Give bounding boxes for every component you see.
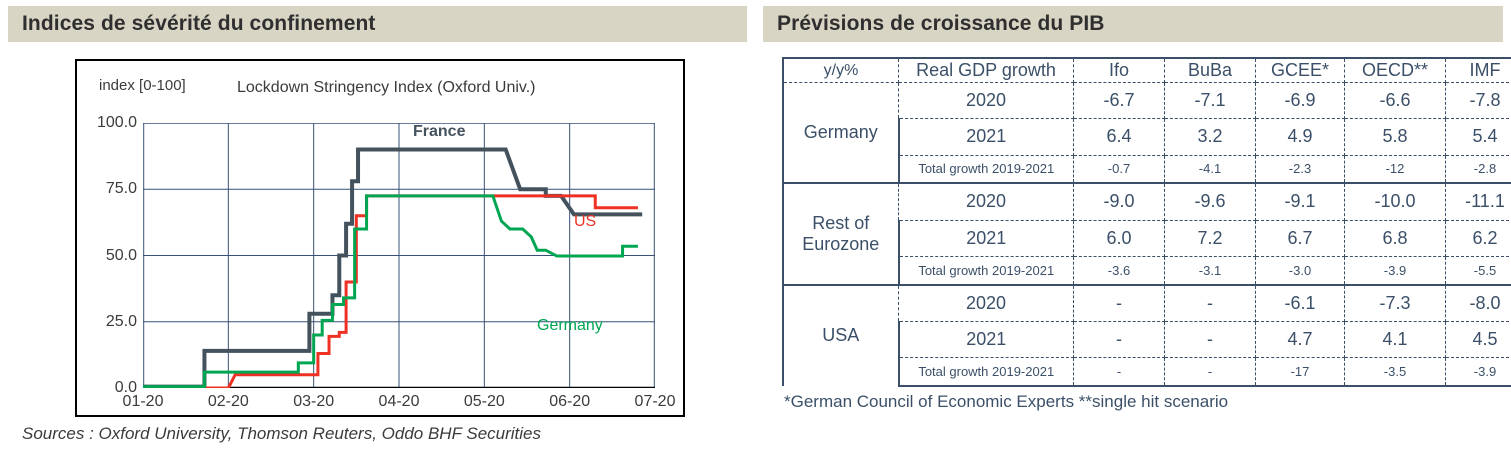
y-tick-label: 100.0 [97,114,137,132]
year-cell: 2020 [899,83,1074,119]
total-growth-value: -17 [1256,358,1345,386]
total-growth-value: -3.9 [1446,358,1511,386]
header-oecd: OECD** [1345,58,1446,83]
value-cell: 4.1 [1345,322,1446,358]
value-cell: - [1165,285,1256,322]
table-header-row: y/y% Real GDP growth Ifo BuBa GCEE* OECD… [783,58,1511,83]
total-growth-value: -3.6 [1074,257,1165,285]
x-tick-label: 05-20 [464,393,505,411]
chart-title: Lockdown Stringency Index (Oxford Univ.) [237,79,536,97]
value-cell: 6.0 [1074,220,1165,256]
total-growth-value: -3.0 [1256,257,1345,285]
value-cell: - [1074,285,1165,322]
value-cell: 6.4 [1074,119,1165,155]
right-panel-title: Prévisions de croissance du PIB [763,12,1105,36]
y-tick-label: 75.0 [106,180,137,198]
value-cell: -9.0 [1074,183,1165,220]
value-cell: -9.1 [1256,183,1345,220]
right-panel: Prévisions de croissance du PIB y/y% Rea… [755,0,1511,458]
series-line-us [143,196,638,388]
value-cell: -7.8 [1446,83,1511,119]
table-body: Germany2020-6.7-7.1-6.9-6.6-7.820216.43.… [783,83,1511,387]
x-tick-label: 06-20 [549,393,590,411]
x-tick-label: 07-20 [635,393,676,411]
total-growth-value: -3.5 [1345,358,1446,386]
sources-note: Sources : Oxford University, Thomson Reu… [22,424,541,444]
x-tick-label: 04-20 [379,393,420,411]
value-cell: -6.6 [1345,83,1446,119]
x-tick-label: 02-20 [208,393,249,411]
header-gcee: GCEE* [1256,58,1345,83]
value-cell: -10.0 [1345,183,1446,220]
table-row: USA2020---6.1-7.3-8.0 [783,285,1511,322]
total-growth-value: -5.5 [1446,257,1511,285]
value-cell: -7.3 [1345,285,1446,322]
gdp-forecast-table: y/y% Real GDP growth Ifo BuBa GCEE* OECD… [782,57,1511,387]
header-unit: y/y% [783,58,899,83]
plot-area [143,123,655,388]
series-line-france [143,150,642,387]
value-cell: -11.1 [1446,183,1511,220]
value-cell: - [1074,322,1165,358]
year-cell: 2020 [899,183,1074,220]
value-cell: - [1165,322,1256,358]
left-panel: Indices de sévérité du confinement index… [0,0,755,458]
year-cell: 2020 [899,285,1074,322]
value-cell: 4.9 [1256,119,1345,155]
total-growth-value: -12 [1345,155,1446,183]
value-cell: 5.4 [1446,119,1511,155]
value-cell: 6.2 [1446,220,1511,256]
y-tick-label: 25.0 [106,313,137,331]
value-cell: 6.7 [1256,220,1345,256]
left-panel-title: Indices de sévérité du confinement [8,12,376,36]
total-growth-value: - [1165,358,1256,386]
y-tick-label: 50.0 [106,247,137,265]
header-metric: Real GDP growth [899,58,1074,83]
value-cell: 7.2 [1165,220,1256,256]
total-growth-label: Total growth 2019-2021 [899,155,1074,183]
value-cell: 6.8 [1345,220,1446,256]
gdp-forecast-table-wrap: y/y% Real GDP growth Ifo BuBa GCEE* OECD… [782,57,1474,387]
value-cell: 3.2 [1165,119,1256,155]
year-cell: 2021 [899,220,1074,256]
y-axis-ticks: 0.025.050.075.0100.0 [77,123,137,388]
value-cell: 4.7 [1256,322,1345,358]
value-cell: -6.1 [1256,285,1345,322]
group-label-usa: USA [783,285,899,386]
table-footnote: *German Council of Economic Experts **si… [784,392,1228,412]
header-ifo: Ifo [1074,58,1165,83]
total-growth-label: Total growth 2019-2021 [899,257,1074,285]
x-tick-label: 03-20 [293,393,334,411]
total-growth-value: -3.9 [1345,257,1446,285]
total-growth-value: -2.8 [1446,155,1511,183]
x-tick-label: 01-20 [123,393,164,411]
total-growth-value: -4.1 [1165,155,1256,183]
table-row: Germany2020-6.7-7.1-6.9-6.6-7.8 [783,83,1511,119]
year-cell: 2021 [899,322,1074,358]
group-label-rest-of-eurozone: Rest of Eurozone [783,183,899,284]
value-cell: -6.7 [1074,83,1165,119]
right-header-band: Prévisions de croissance du PIB [763,6,1503,42]
value-cell: -9.6 [1165,183,1256,220]
series-label-france: France [413,123,465,141]
year-cell: 2021 [899,119,1074,155]
total-growth-label: Total growth 2019-2021 [899,358,1074,386]
series-line-germany [143,196,638,387]
total-growth-value: - [1074,358,1165,386]
header-imf: IMF [1446,58,1511,83]
value-cell: -7.1 [1165,83,1256,119]
stringency-chart: index [0-100] Lockdown Stringency Index … [75,59,685,417]
series-label-germany: Germany [537,317,603,335]
value-cell: -6.9 [1256,83,1345,119]
header-buba: BuBa [1165,58,1256,83]
chart-svg [143,123,655,388]
slide-root: Indices de sévérité du confinement index… [0,0,1511,458]
value-cell: 5.8 [1345,119,1446,155]
total-growth-value: -3.1 [1165,257,1256,285]
left-header-band: Indices de sévérité du confinement [8,6,747,42]
value-cell: 4.5 [1446,322,1511,358]
chart-y-axis-label: index [0-100] [99,77,186,94]
table-row: Rest of Eurozone2020-9.0-9.6-9.1-10.0-11… [783,183,1511,220]
series-label-us: US [574,213,596,231]
total-growth-value: -2.3 [1256,155,1345,183]
table-head: y/y% Real GDP growth Ifo BuBa GCEE* OECD… [783,58,1511,83]
group-label-germany: Germany [783,83,899,184]
x-axis-ticks: 01-2002-2003-2004-2005-2006-2007-20 [143,391,655,417]
total-growth-value: -0.7 [1074,155,1165,183]
value-cell: -8.0 [1446,285,1511,322]
